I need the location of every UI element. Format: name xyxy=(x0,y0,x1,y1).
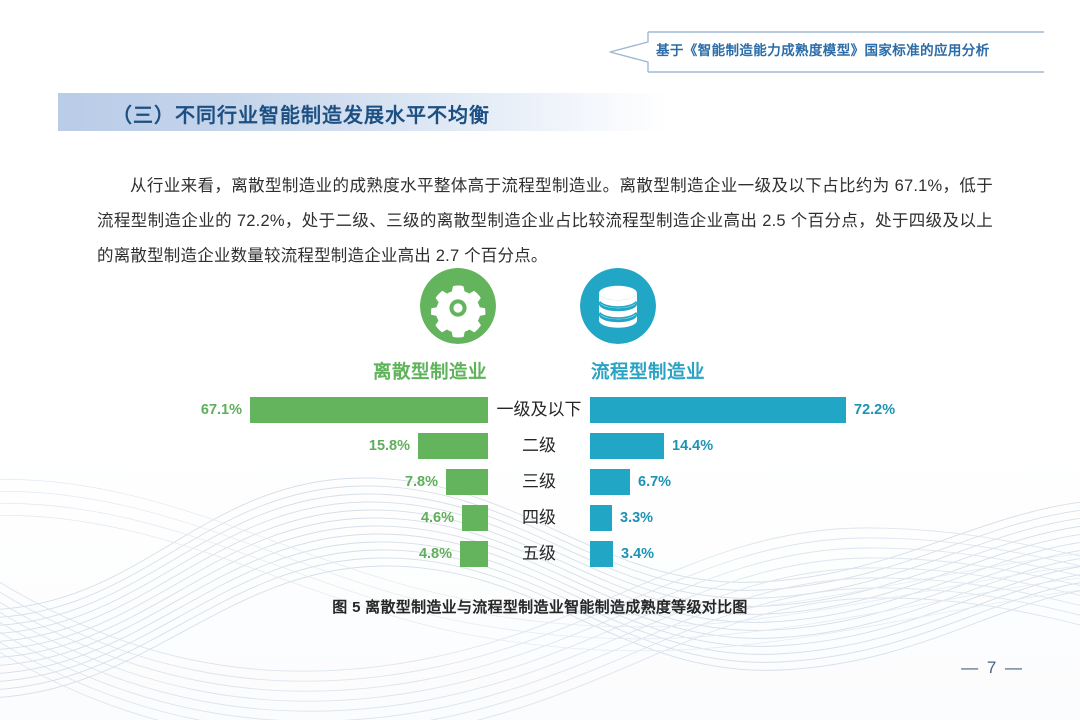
left-bar xyxy=(418,433,488,459)
gear-icon xyxy=(420,268,496,344)
right-bar-group: 14.4% xyxy=(590,428,950,464)
right-bar-value: 72.2% xyxy=(854,402,895,418)
right-bar-value: 14.4% xyxy=(672,438,713,454)
legend-left-title: 离散型制造业 xyxy=(360,358,500,384)
left-bar-value: 67.1% xyxy=(201,402,242,418)
figure-5: 离散型制造业 流程型制造业 67.1% 一级及以下 72.2% 15.8% xyxy=(0,268,1080,618)
left-bar xyxy=(460,541,488,567)
chart-row: 7.8% 三级 6.7% xyxy=(0,464,1080,500)
right-bar xyxy=(590,469,630,495)
legend-right-title: 流程型制造业 xyxy=(578,358,718,384)
running-header: 基于《智能制造能力成熟度模型》国家标准的应用分析 xyxy=(604,30,1044,74)
right-bar xyxy=(590,505,612,531)
left-bar-value: 15.8% xyxy=(369,438,410,454)
category-label: 一级及以下 xyxy=(490,392,588,428)
right-bar-group: 6.7% xyxy=(590,464,950,500)
left-bar-value: 7.8% xyxy=(405,474,438,490)
database-cylinder-icon xyxy=(580,268,656,344)
body-paragraph: 从行业来看，离散型制造业的成熟度水平整体高于流程型制造业。离散型制造企业一级及以… xyxy=(97,169,993,274)
left-bar-group: 4.6% xyxy=(150,500,488,536)
chart-row: 4.8% 五级 3.4% xyxy=(0,536,1080,572)
left-bar-value: 4.8% xyxy=(419,546,452,562)
right-bar-value: 3.3% xyxy=(620,510,653,526)
bar-chart-rows: 67.1% 一级及以下 72.2% 15.8% 二级 14.4% xyxy=(0,392,1080,572)
chart-row: 4.6% 四级 3.3% xyxy=(0,500,1080,536)
document-page: 基于《智能制造能力成熟度模型》国家标准的应用分析 （三）不同行业智能制造发展水平… xyxy=(0,0,1080,720)
database-cylinder-icon-wrapper xyxy=(580,268,656,344)
right-bar xyxy=(590,541,613,567)
right-bar-value: 3.4% xyxy=(621,546,654,562)
category-label: 四级 xyxy=(490,500,588,536)
left-bar-group: 67.1% xyxy=(150,392,488,428)
running-header-title: 基于《智能制造能力成熟度模型》国家标准的应用分析 xyxy=(656,39,1040,59)
right-bar-value: 6.7% xyxy=(638,474,671,490)
category-label: 三级 xyxy=(490,464,588,500)
left-bar xyxy=(250,397,488,423)
right-bar-group: 72.2% xyxy=(590,392,950,428)
gear-icon-wrapper xyxy=(420,268,496,344)
chart-row: 15.8% 二级 14.4% xyxy=(0,428,1080,464)
left-bar-group: 15.8% xyxy=(150,428,488,464)
category-label: 五级 xyxy=(490,536,588,572)
left-bar-value: 4.6% xyxy=(421,510,454,526)
left-bar xyxy=(462,505,488,531)
page-number: — 7 — xyxy=(961,658,1024,678)
right-bar xyxy=(590,397,846,423)
left-bar-group: 7.8% xyxy=(150,464,488,500)
category-label: 二级 xyxy=(490,428,588,464)
right-bar-group: 3.4% xyxy=(590,536,950,572)
figure-caption: 图 5 离散型制造业与流程型制造业智能制造成熟度等级对比图 xyxy=(0,596,1080,617)
section-heading-title: （三）不同行业智能制造发展水平不均衡 xyxy=(112,99,490,128)
right-bar xyxy=(590,433,664,459)
left-bar-group: 4.8% xyxy=(150,536,488,572)
chart-row: 67.1% 一级及以下 72.2% xyxy=(0,392,1080,428)
right-bar-group: 3.3% xyxy=(590,500,950,536)
left-bar xyxy=(446,469,488,495)
